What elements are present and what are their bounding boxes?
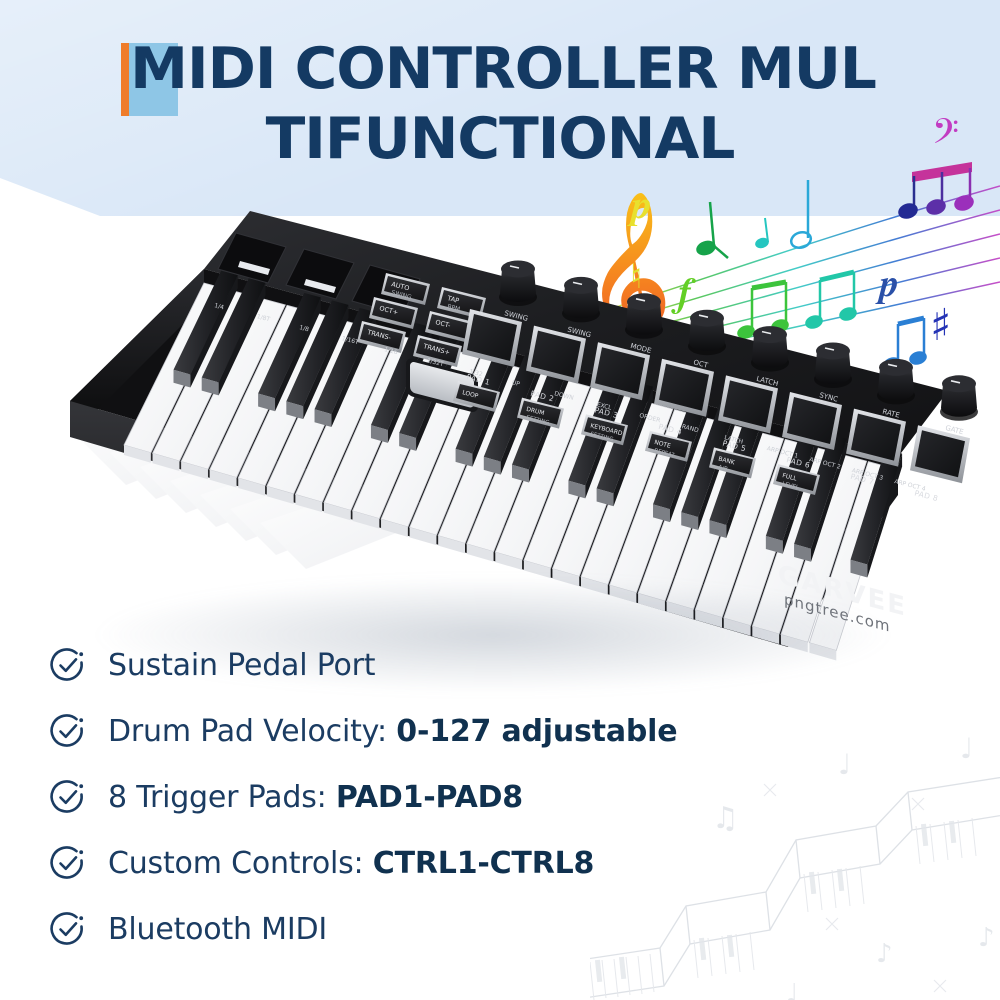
feature-text-normal: Sustain Pedal Port [108,648,375,683]
feature-text-normal: Custom Controls: [108,846,373,881]
feature-text-bold: PAD1-PAD8 [336,780,523,815]
check-circle-icon [48,843,88,883]
title-line-2: TIFUNCTIONAL [0,104,1000,174]
feature-text-normal: 8 Trigger Pads: [108,780,336,815]
feature-bluetooth-midi: Bluetooth MIDI [48,896,748,962]
feature-label: Bluetooth MIDI [108,912,327,947]
knob-cap[interactable] [816,343,850,360]
feature-text-normal: Bluetooth MIDI [108,912,327,947]
knob-cap[interactable] [690,310,724,327]
knob-cap[interactable] [879,359,913,376]
title-line-1: MIDI CONTROLLER MUL [0,34,1000,104]
check-circle-icon [48,645,88,685]
knob-cap[interactable] [942,375,976,392]
page-title: MIDI CONTROLLER MUL TIFUNCTIONAL [0,34,1000,174]
feature-text-bold: CTRL1-CTRL8 [373,846,594,881]
svg-text:♩: ♩ [960,732,973,765]
banner-canvas: MIDI CONTROLLER MUL TIFUNCTIONAL 𝄞 𝄢 [0,0,1000,1000]
legend-label: ARP OCT 4 [894,478,927,493]
feature-text-normal: Drum Pad Velocity: [108,714,396,749]
svg-text:♩: ♩ [838,748,851,781]
svg-text:♩: ♩ [786,979,798,1000]
feature-text-bold: 0-127 adjustable [396,714,677,749]
feature-label: Sustain Pedal Port [108,648,375,683]
check-circle-icon [48,909,88,949]
knob-cap[interactable] [564,277,598,294]
svg-text:♪: ♪ [876,939,893,969]
feature-custom-controls: Custom Controls: CTRL1-CTRL8 [48,830,748,896]
knob-8[interactable]: GATE [940,375,978,436]
knob-cap[interactable] [501,261,535,278]
feature-sustain-pedal: Sustain Pedal Port [48,632,748,698]
knob-cap[interactable] [753,326,787,343]
svg-text:♪: ♪ [978,923,995,953]
knob-cap[interactable] [627,293,661,310]
midi-controller-product-image: AUTOSWINGTAPBPMOCT+OCT-TRANS-TRANS+ SWIN… [18,185,988,705]
check-circle-icon [48,711,88,751]
feature-label: Custom Controls: CTRL1-CTRL8 [108,846,594,881]
feature-trigger-pads: 8 Trigger Pads: PAD1-PAD8 [48,764,748,830]
feature-drum-pad-velocity: Drum Pad Velocity: 0-127 adjustable [48,698,748,764]
feature-list: Sustain Pedal Port Drum Pad Velocity: 0-… [48,632,748,962]
feature-label: 8 Trigger Pads: PAD1-PAD8 [108,780,523,815]
check-circle-icon [48,777,88,817]
feature-label: Drum Pad Velocity: 0-127 adjustable [108,714,677,749]
